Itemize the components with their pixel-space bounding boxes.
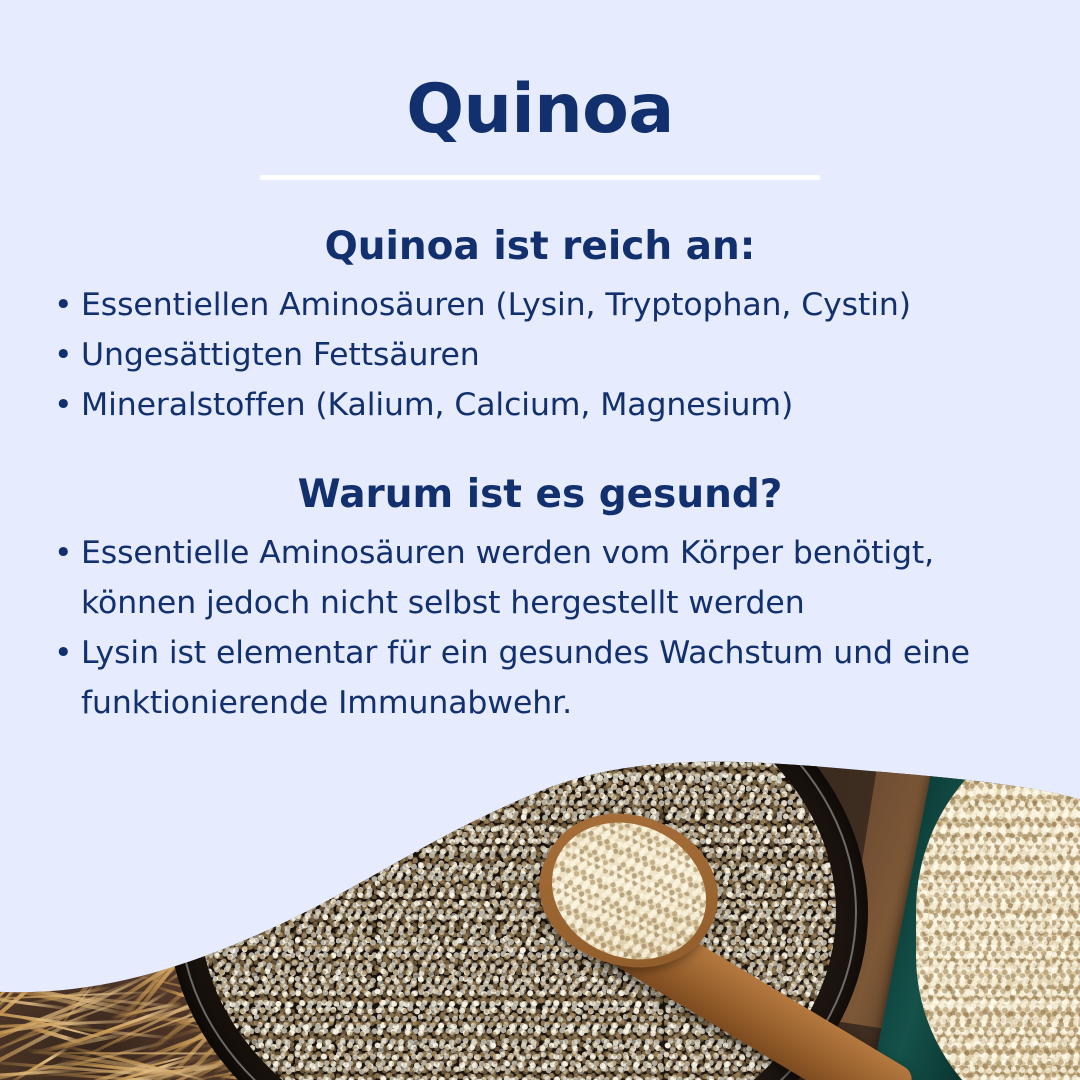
list-item: • Lysin ist elementar für ein gesundes W… — [54, 628, 1034, 728]
seed-texture — [916, 750, 1080, 1080]
list-item: • Essentiellen Aminosäuren (Lysin, Trypt… — [54, 280, 1034, 330]
bullet-dot-icon: • — [54, 380, 72, 430]
list-item-text: Mineralstoffen (Kalium, Calcium, Magnesi… — [81, 387, 793, 423]
content-area: Quinoa ist reich an: • Essentiellen Amin… — [0, 224, 1080, 728]
list-item-text: Essentiellen Aminosäuren (Lysin, Tryptop… — [81, 287, 911, 323]
list-item: • Mineralstoffen (Kalium, Calcium, Magne… — [54, 380, 1034, 430]
straw-strand — [111, 946, 172, 968]
straw-strand — [0, 946, 96, 994]
title-block: Quinoa — [0, 76, 1080, 180]
section-why-healthy: Warum ist es gesund? • Essentielle Amino… — [0, 472, 1080, 728]
bullet-dot-icon: • — [54, 528, 72, 578]
list-item: • Ungesättigten Fettsäuren — [54, 330, 1034, 380]
section-heading-why-healthy: Warum ist es gesund? — [0, 472, 1080, 518]
straw-strand — [0, 946, 110, 957]
straw-strand — [63, 946, 111, 968]
bullet-list-rich-in: • Essentiellen Aminosäuren (Lysin, Trypt… — [0, 280, 1080, 430]
list-item-text: Essentielle Aminosäuren werden vom Körpe… — [81, 535, 934, 621]
straw-strand — [105, 946, 177, 953]
quinoa-infographic-card: Quinoa Quinoa ist reich an: • Essentiell… — [0, 0, 1080, 1080]
page-title: Quinoa — [0, 76, 1080, 144]
straw-strand — [0, 946, 182, 959]
straw-strand — [0, 946, 59, 954]
straw-strand — [0, 960, 113, 981]
secondary-quinoa-heap — [916, 750, 1080, 1080]
straw-strand — [0, 946, 46, 969]
bullet-list-why-healthy: • Essentielle Aminosäuren werden vom Kör… — [0, 528, 1080, 728]
straw-strand — [0, 950, 124, 989]
straw-strand — [1, 946, 159, 968]
list-item-text: Ungesättigten Fettsäuren — [81, 337, 480, 373]
straw-strand — [24, 946, 137, 953]
straw-strand — [38, 946, 151, 974]
straw-strand — [77, 946, 228, 957]
title-divider — [260, 175, 820, 180]
straw-strand — [0, 946, 23, 973]
bullet-dot-icon: • — [54, 330, 72, 380]
section-heading-rich-in: Quinoa ist reich an: — [0, 224, 1080, 270]
section-spacer — [0, 430, 1080, 472]
section-rich-in: Quinoa ist reich an: • Essentiellen Amin… — [0, 224, 1080, 430]
quinoa-bowl-photo — [0, 750, 1080, 1080]
list-item-text: Lysin ist elementar für ein gesundes Wac… — [81, 635, 970, 721]
straw-strand — [0, 946, 107, 978]
list-item: • Essentielle Aminosäuren werden vom Kör… — [54, 528, 1034, 628]
bullet-dot-icon: • — [54, 628, 72, 678]
photo-container — [0, 750, 1080, 1080]
bullet-dot-icon: • — [54, 280, 72, 330]
